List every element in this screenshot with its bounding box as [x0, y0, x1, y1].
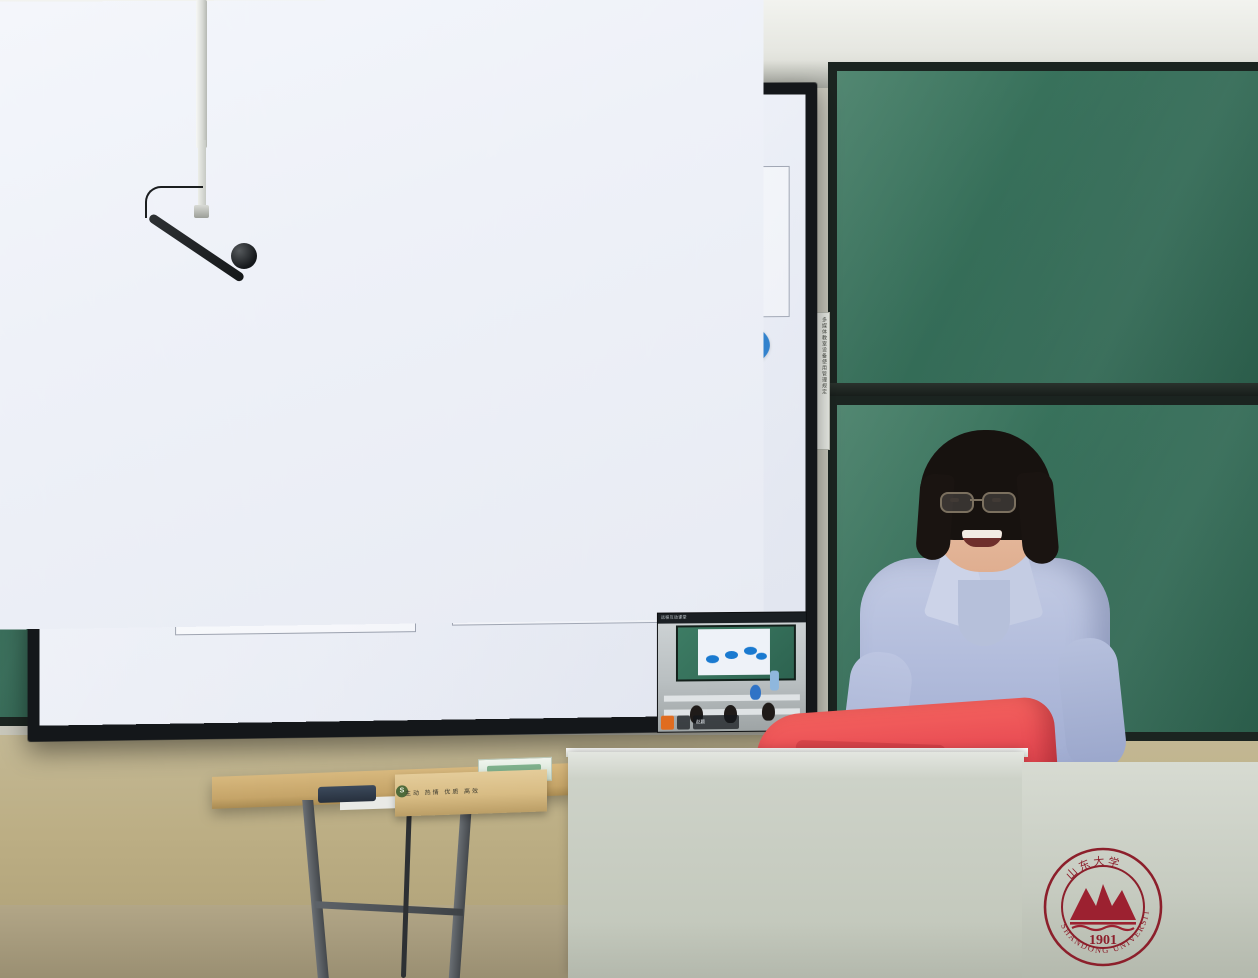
- pip-topbar-label: 远程互动课堂: [661, 614, 687, 620]
- lectern: [568, 752, 1024, 978]
- pip-name-badge: 赵颖: [693, 715, 739, 729]
- pip-student: [762, 703, 775, 721]
- pip-projection-screen: [698, 629, 770, 676]
- pip-user-badge[interactable]: [661, 716, 674, 730]
- microphone-head-icon: [231, 243, 257, 269]
- glasses-icon: [940, 492, 974, 513]
- remote-classroom-pip[interactable]: 远程互动课堂 赵颖: [657, 611, 807, 732]
- pip-mic-badge[interactable]: [677, 715, 690, 729]
- remote-control[interactable]: [318, 785, 376, 803]
- chalk-tray: [828, 383, 1258, 397]
- presenter-mouth: [962, 530, 1002, 547]
- microphone-pole: [196, 0, 207, 148]
- presenter-v-neck: [958, 580, 1010, 646]
- glasses-bridge: [970, 499, 983, 501]
- shandong-university-emblem-icon: 1901 山 东 大 学 SHANDONG UNIVERSITY: [1040, 844, 1166, 970]
- presenter-hair-right: [1016, 471, 1060, 566]
- glasses-icon: [982, 492, 1016, 513]
- pip-student: [750, 685, 761, 700]
- presenter-hair-left: [915, 473, 955, 561]
- classroom-photo-scene: 多媒体教室设备管理标签 多媒体教室设备使用管理规定 2. 课程建设实践：写作课堂…: [0, 0, 1258, 978]
- wooden-service-box: S 主动 热情 优质 高效: [395, 769, 547, 816]
- pip-topbar: 远程互动课堂: [658, 612, 806, 623]
- chalkboard-right-upper: [828, 62, 1258, 392]
- pip-presenter: [770, 671, 779, 691]
- wood-box-slogan: 主动 热情 优质 高效: [405, 786, 480, 798]
